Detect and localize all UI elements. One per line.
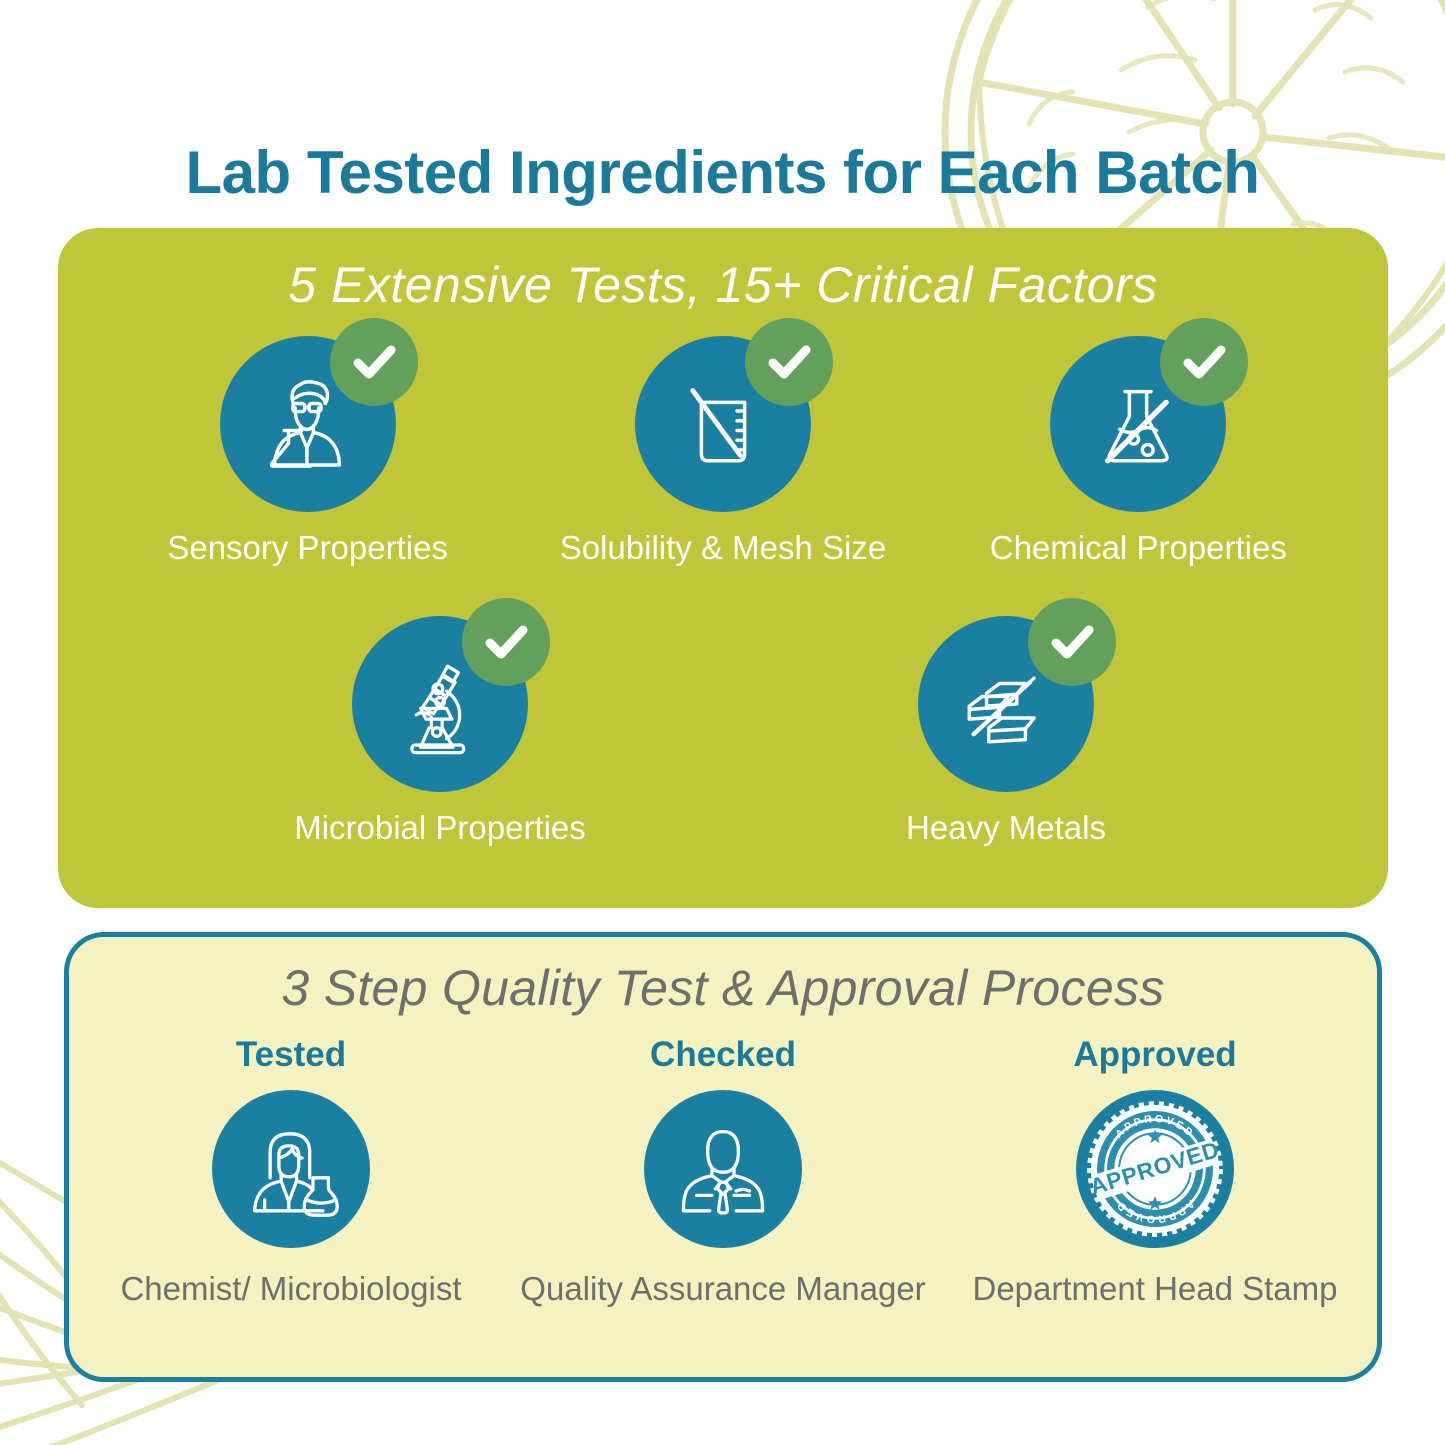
checkmark-icon: [1046, 616, 1098, 668]
test-item-microbial-properties[interactable]: Microbial Properties: [275, 616, 605, 847]
tests-row-bottom: Microbial Properties: [58, 616, 1388, 847]
checkmark-icon: [763, 336, 815, 388]
process-step-checked[interactable]: Checked: [513, 1035, 933, 1308]
test-label: Sensory Properties: [167, 529, 448, 567]
test-label: Chemical Properties: [990, 529, 1287, 567]
step-label: Quality Assurance Manager: [520, 1270, 925, 1308]
process-steps-row: Tested: [69, 1035, 1377, 1308]
page-title: Lab Tested Ingredients for Each Batch: [0, 138, 1445, 207]
tests-panel-heading: 5 Extensive Tests, 15+ Critical Factors: [58, 256, 1388, 314]
test-item-heavy-metals[interactable]: Heavy Metals: [841, 616, 1171, 847]
process-step-tested[interactable]: Tested: [81, 1035, 501, 1308]
test-item-chemical-properties[interactable]: Chemical Properties: [973, 336, 1303, 567]
check-badge: [1028, 598, 1116, 686]
check-badge: [330, 318, 418, 406]
icon-wrap: [1050, 336, 1226, 512]
icon-wrap: [220, 336, 396, 512]
check-badge: [462, 598, 550, 686]
step-label: Chemist/ Microbiologist: [120, 1270, 461, 1308]
icon-wrap: [635, 336, 811, 512]
approved-stamp-icon: APPROVED APPROVED APPROVED: [1076, 1090, 1234, 1248]
infographic-poster: Lab Tested Ingredients for Each Batch 5 …: [0, 0, 1445, 1445]
icon-wrap: [918, 616, 1094, 792]
checkmark-icon: [1178, 336, 1230, 388]
checkmark-icon: [480, 616, 532, 668]
checkmark-icon: [348, 336, 400, 388]
test-label: Solubility & Mesh Size: [560, 529, 886, 567]
step-label: Department Head Stamp: [972, 1270, 1337, 1308]
tests-row-top: Sensory Properties: [58, 336, 1388, 567]
process-panel-heading: 3 Step Quality Test & Approval Process: [69, 959, 1377, 1017]
check-badge: [1160, 318, 1248, 406]
step-status-badge: Tested: [236, 1035, 346, 1075]
test-label: Heavy Metals: [906, 809, 1106, 847]
female-chemist-flask-icon: [212, 1090, 370, 1248]
test-label: Microbial Properties: [294, 809, 586, 847]
check-badge: [745, 318, 833, 406]
process-step-approved[interactable]: Approved: [945, 1035, 1365, 1308]
tests-panel: 5 Extensive Tests, 15+ Critical Factors: [58, 228, 1388, 908]
process-panel: 3 Step Quality Test & Approval Process T…: [64, 932, 1382, 1382]
step-status-badge: Checked: [650, 1035, 796, 1075]
test-item-sensory-properties[interactable]: Sensory Properties: [143, 336, 473, 567]
icon-wrap: [352, 616, 528, 792]
step-status-badge: Approved: [1073, 1035, 1236, 1075]
manager-suit-tie-icon: [644, 1090, 802, 1248]
test-item-solubility-mesh-size[interactable]: Solubility & Mesh Size: [558, 336, 888, 567]
